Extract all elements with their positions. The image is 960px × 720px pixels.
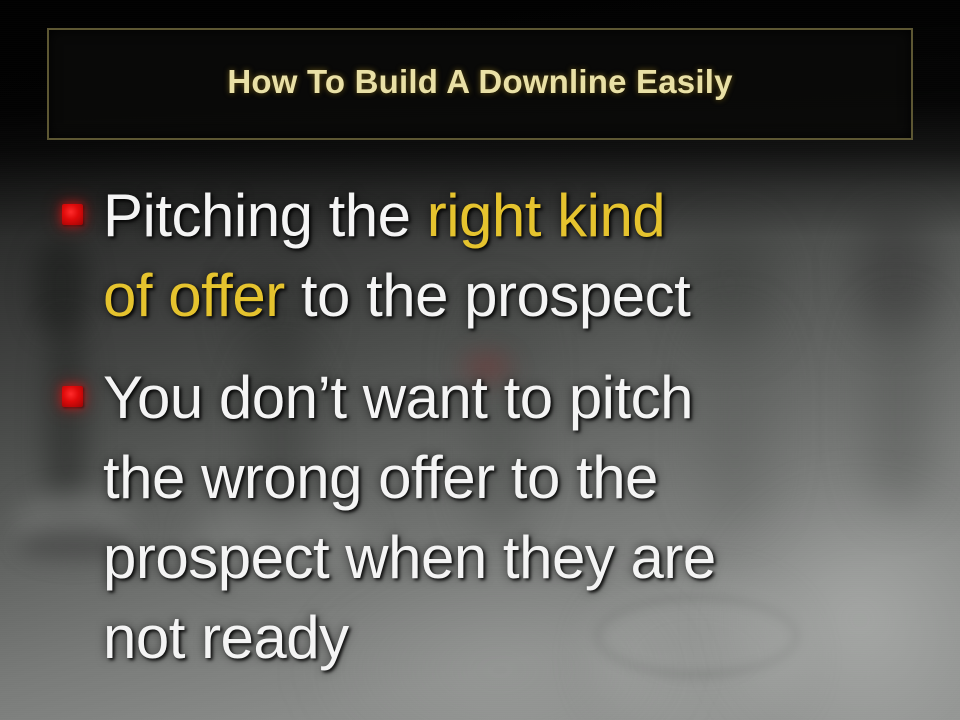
bullet-line: You don’t want to pitch	[103, 358, 716, 438]
slide-title: How To Build A Downline Easily	[227, 63, 732, 101]
bullet-text-block: Pitching the right kindof offer to the p…	[103, 176, 690, 336]
body-text: You don’t want to pitch	[103, 364, 693, 431]
bullet-line: the wrong offer to the	[103, 438, 716, 518]
title-plaque: How To Build A Downline Easily	[47, 28, 913, 140]
highlighted-text: right kind	[427, 182, 665, 249]
bullet-text-block: You don’t want to pitchthe wrong offer t…	[103, 358, 716, 678]
bullet-line: Pitching the right kind	[103, 176, 690, 256]
bullet-line: not ready	[103, 598, 716, 678]
body-text: Pitching the	[103, 182, 427, 249]
body-text: not ready	[103, 604, 349, 671]
red-square-bullet	[62, 386, 83, 407]
highlighted-text: of offer	[103, 262, 285, 329]
red-square-bullet	[62, 204, 83, 225]
slide-canvas: How To Build A Downline Easily Pitching …	[0, 0, 960, 720]
bullet-item: You don’t want to pitchthe wrong offer t…	[0, 358, 960, 678]
bullet-item: Pitching the right kindof offer to the p…	[0, 176, 960, 336]
bullet-line: of offer to the prospect	[103, 256, 690, 336]
bullet-list: Pitching the right kindof offer to the p…	[0, 176, 960, 678]
body-text: the wrong offer to the	[103, 444, 658, 511]
body-text: prospect when they are	[103, 524, 716, 591]
bullet-line: prospect when they are	[103, 518, 716, 598]
body-text: to the prospect	[285, 262, 691, 329]
